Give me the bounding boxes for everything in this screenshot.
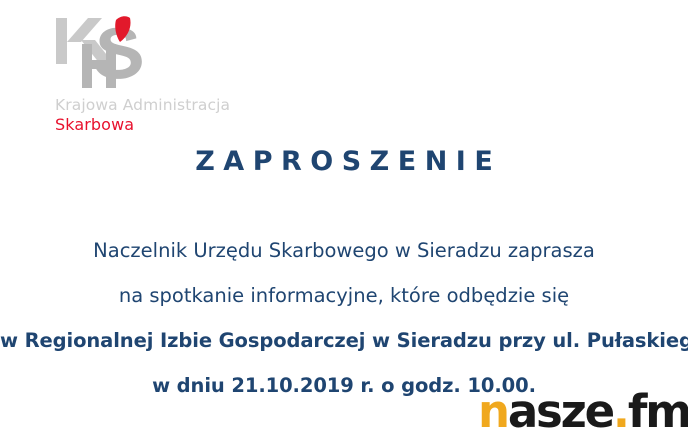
nasze-fm-accent-letter: n: [478, 385, 508, 438]
kas-logo: Krajowa Administracja Skarbowa: [52, 14, 262, 130]
kas-wordmark-line2: Skarbowa: [55, 115, 261, 134]
nasze-fm-logo: nasze.fm: [478, 389, 688, 434]
invitation-body: Naczelnik Urzędu Skarbowego w Sieradzu z…: [0, 228, 688, 408]
kas-wordmark-line1: Krajowa Administracja: [55, 96, 261, 115]
nasze-fm-tail-text: fm: [628, 385, 688, 438]
invitation-line-2: na spotkanie informacyjne, które odbędzi…: [0, 273, 688, 318]
page-title: ZAPROSZENIE: [0, 146, 688, 177]
invitation-line-3: w Regionalnej Izbie Gospodarczej w Siera…: [0, 318, 688, 363]
kas-logo-mark-icon: [54, 14, 158, 94]
invitation-poster: Krajowa Administracja Skarbowa ZAPROSZEN…: [0, 0, 688, 441]
kas-wordmark: Krajowa Administracja Skarbowa: [55, 96, 261, 134]
nasze-fm-dot: .: [613, 385, 628, 438]
invitation-line-1: Naczelnik Urzędu Skarbowego w Sieradzu z…: [0, 228, 688, 273]
nasze-fm-mid-text: asze: [508, 385, 613, 438]
